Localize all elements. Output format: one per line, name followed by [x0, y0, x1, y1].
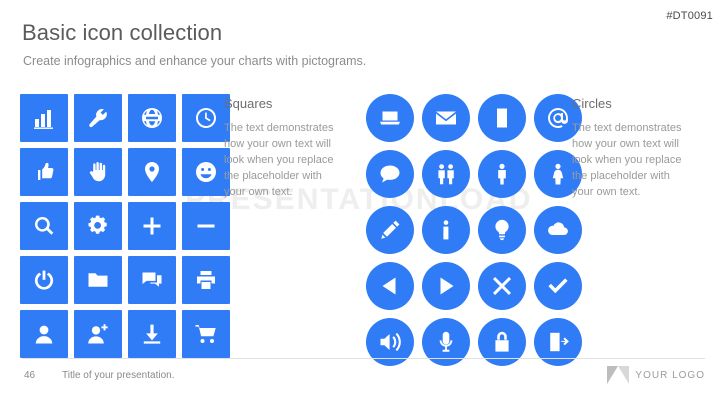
map-pin-icon[interactable]	[128, 148, 176, 196]
wrench-icon[interactable]	[74, 94, 122, 142]
hand-icon[interactable]	[74, 148, 122, 196]
person-icon[interactable]	[478, 150, 526, 198]
cloud-icon[interactable]	[534, 206, 582, 254]
play-left-icon[interactable]	[366, 262, 414, 310]
squares-icon-grid	[20, 94, 230, 358]
tablet-icon[interactable]	[478, 94, 526, 142]
bar-chart-icon[interactable]	[20, 94, 68, 142]
close-icon[interactable]	[478, 262, 526, 310]
plus-icon[interactable]	[128, 202, 176, 250]
search-icon[interactable]	[20, 202, 68, 250]
pencil-icon[interactable]	[366, 206, 414, 254]
globe-icon[interactable]	[128, 94, 176, 142]
document-code: #DT0091	[666, 10, 713, 22]
slide: #DT0091 Basic icon collection Create inf…	[0, 0, 727, 409]
laptop-icon[interactable]	[366, 94, 414, 142]
squares-description: The text demonstrates how your own text …	[224, 120, 342, 200]
user-icon[interactable]	[20, 310, 68, 358]
add-user-icon[interactable]	[74, 310, 122, 358]
circles-heading: Circles	[572, 96, 612, 111]
thumbs-up-icon[interactable]	[20, 148, 68, 196]
circles-icon-grid	[366, 94, 582, 366]
logo-text: YOUR LOGO	[635, 370, 705, 381]
speech-bubble-icon[interactable]	[366, 150, 414, 198]
power-icon[interactable]	[20, 256, 68, 304]
folder-icon[interactable]	[74, 256, 122, 304]
logo-mark-icon	[607, 366, 629, 384]
footer-divider	[22, 358, 705, 359]
minus-icon[interactable]	[182, 202, 230, 250]
page-number: 46	[24, 370, 35, 381]
lightbulb-icon[interactable]	[478, 206, 526, 254]
gears-icon[interactable]	[74, 202, 122, 250]
squares-heading: Squares	[224, 96, 272, 111]
page-subtitle: Create infographics and enhance your cha…	[23, 54, 366, 68]
circles-description: The text demonstrates how your own text …	[572, 120, 690, 200]
page-title: Basic icon collection	[22, 20, 222, 46]
two-people-icon[interactable]	[422, 150, 470, 198]
chat-icon[interactable]	[128, 256, 176, 304]
printer-icon[interactable]	[182, 256, 230, 304]
check-icon[interactable]	[534, 262, 582, 310]
logo: YOUR LOGO	[607, 366, 705, 384]
clock-icon[interactable]	[182, 94, 230, 142]
shopping-cart-icon[interactable]	[182, 310, 230, 358]
smiley-icon[interactable]	[182, 148, 230, 196]
download-icon[interactable]	[128, 310, 176, 358]
info-icon[interactable]	[422, 206, 470, 254]
footer-title: Title of your presentation.	[62, 370, 174, 381]
play-right-icon[interactable]	[422, 262, 470, 310]
envelope-icon[interactable]	[422, 94, 470, 142]
